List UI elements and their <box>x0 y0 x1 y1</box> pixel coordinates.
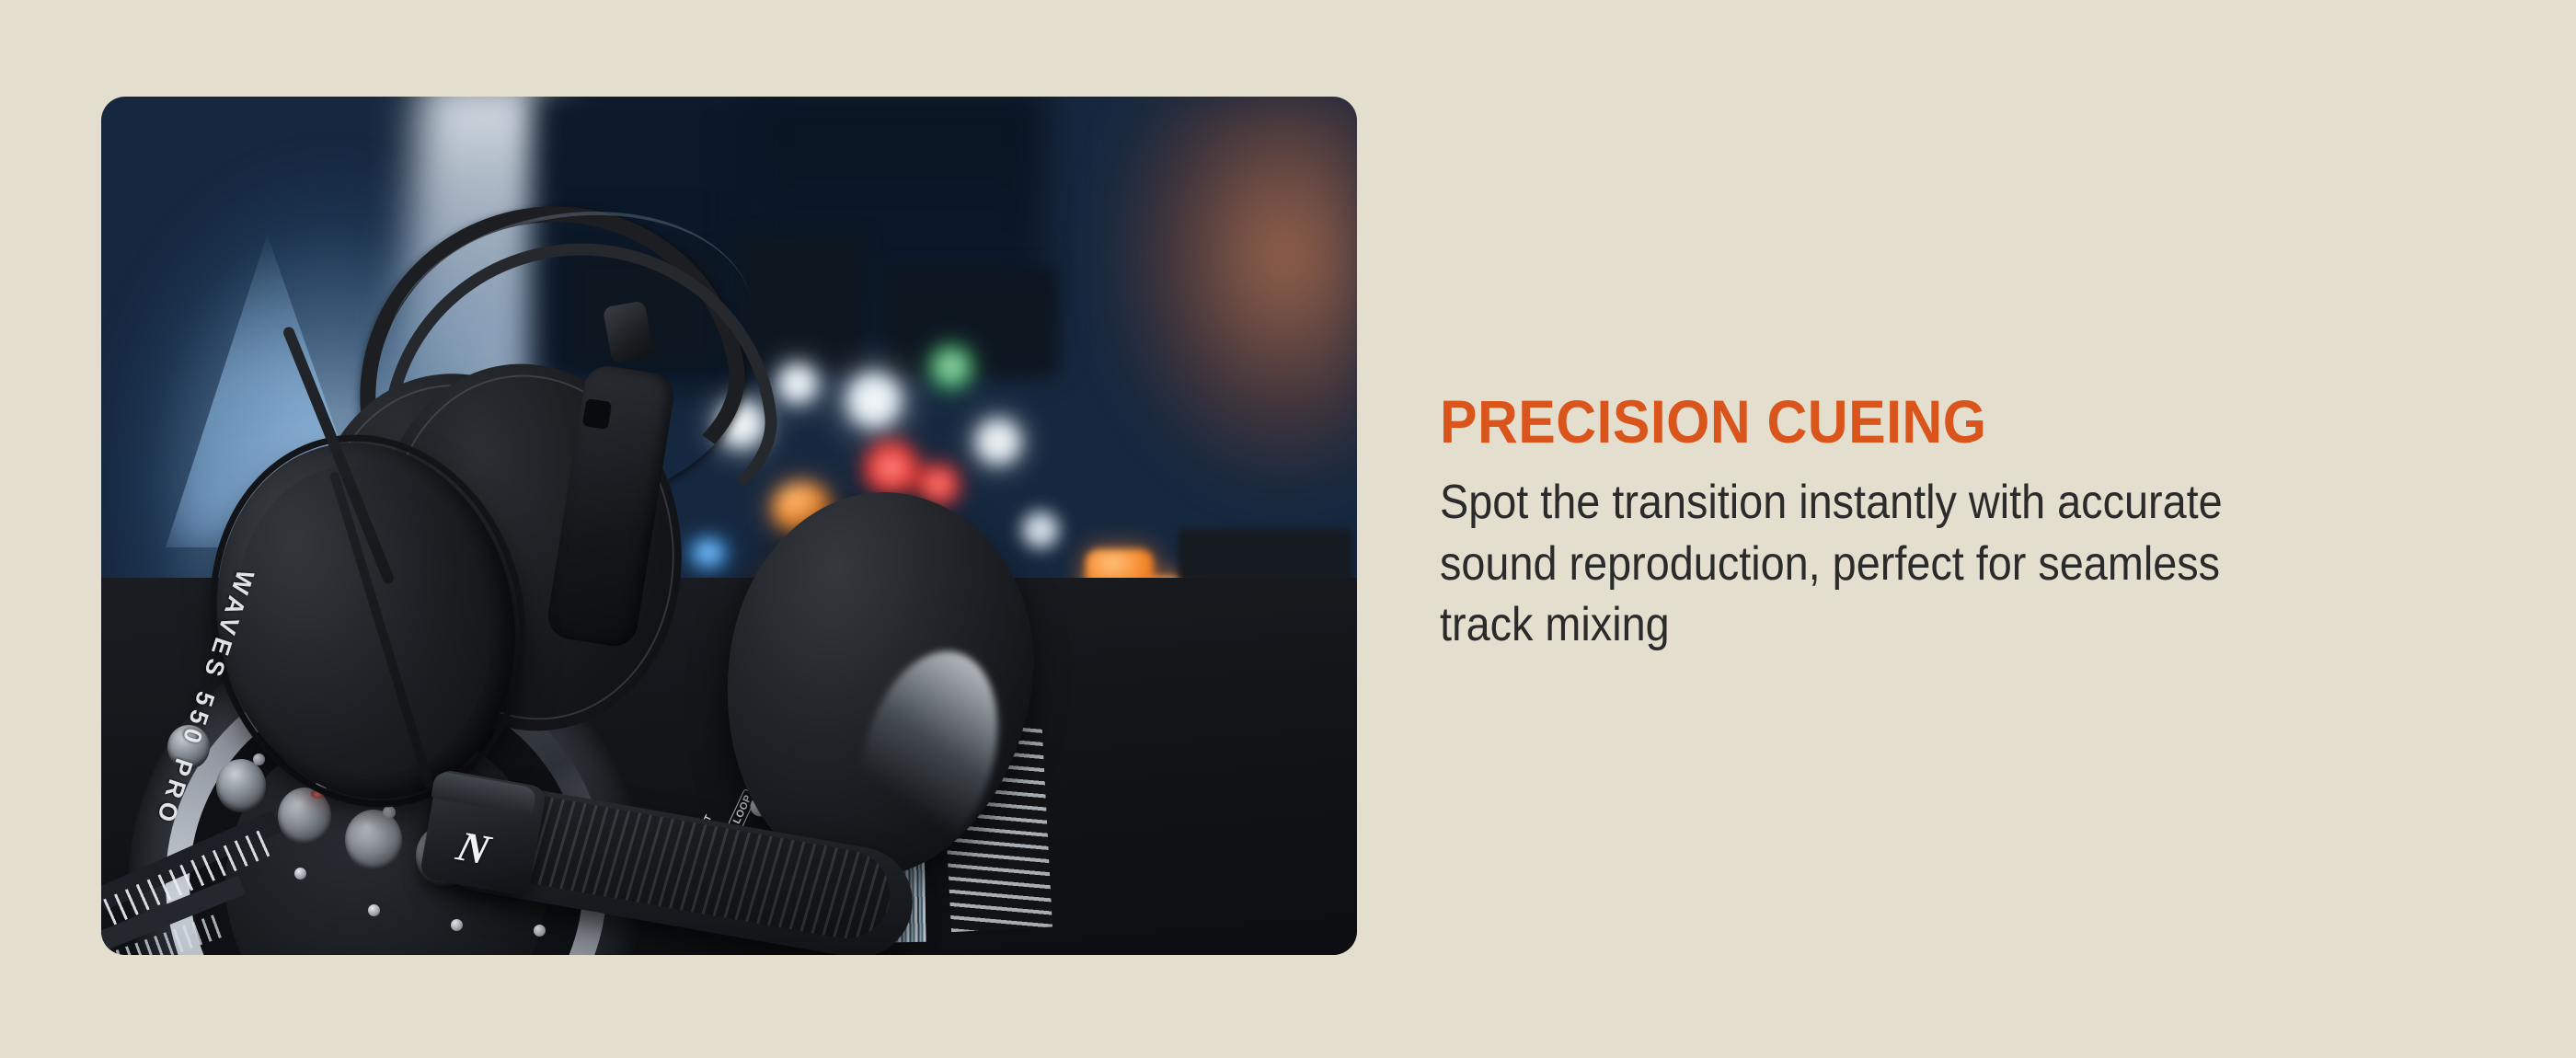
product-photo-card: OUT LOOP CALL CUE/LOOP IN <box>101 97 1357 955</box>
headphones: WAVES 550 PRO N <box>101 97 1357 955</box>
feature-copy-block: PRECISION CUEING Spot the transition ins… <box>1440 391 2360 656</box>
product-photo: OUT LOOP CALL CUE/LOOP IN <box>101 97 1357 955</box>
feature-description: Spot the transition instantly with accur… <box>1440 472 2268 656</box>
feature-headline: PRECISION CUEING <box>1440 391 2286 452</box>
earcup-yoke-notch <box>582 398 612 430</box>
product-feature-banner: OUT LOOP CALL CUE/LOOP IN <box>0 0 2576 1058</box>
